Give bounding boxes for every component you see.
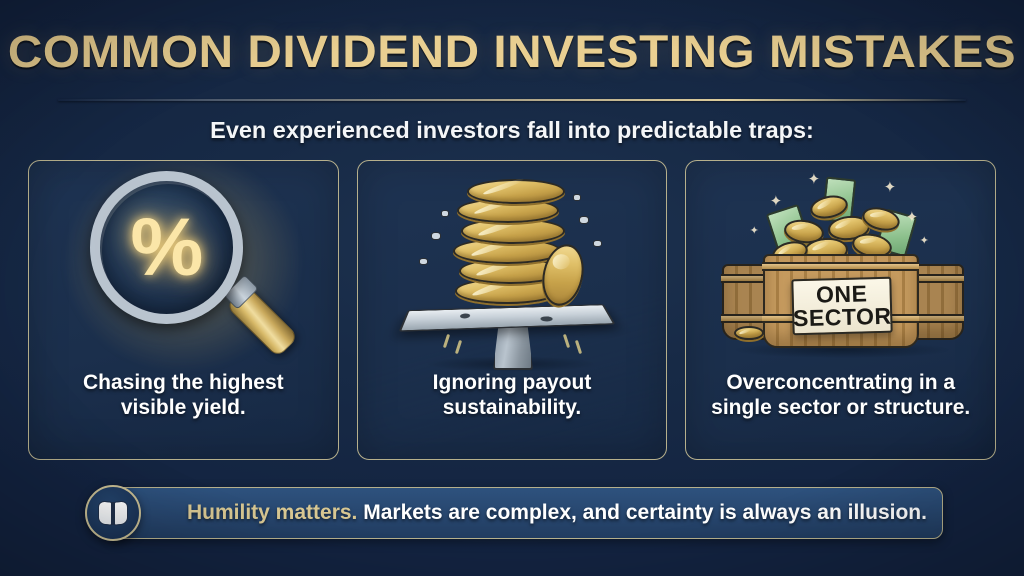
mistake-card-chasing-yield[interactable]: % Chasing the highest visible yield.: [28, 160, 339, 460]
card-caption: Chasing the highest visible yield.: [69, 371, 298, 421]
debris-chip: [593, 240, 602, 247]
motion-line: [455, 340, 462, 354]
basket-hoop: [762, 262, 919, 271]
open-book-icon: [98, 501, 128, 525]
card-caption: Ignoring payout sustainability.: [419, 371, 606, 421]
card-caption-line2: sustainability.: [433, 396, 592, 421]
motion-line: [563, 334, 570, 348]
sparkle-icon: ✦: [750, 226, 759, 237]
page-title: COMMON DIVIDEND INVESTING MISTAKES: [0, 26, 1024, 78]
book-spine: [111, 502, 115, 525]
mistake-card-list: % Chasing the highest visible yield.: [28, 160, 996, 460]
card-illustration: %: [29, 161, 338, 371]
sparkle-icon: ✦: [770, 194, 783, 209]
title-divider: [58, 99, 966, 101]
mistake-card-overconcentration[interactable]: ONE SECTOR ✦ ✦ ✦ ✦ ✦ ✦ Overconcentrating…: [685, 160, 996, 460]
card-caption-line2: visible yield.: [83, 396, 284, 421]
debris-chip: [573, 194, 581, 201]
footer-message: Humility matters. Markets are complex, a…: [187, 501, 927, 525]
debris-chip: [431, 232, 441, 240]
coin-stack-on-cracked-slab-icon: [397, 166, 627, 366]
book-left-page: [98, 500, 112, 525]
sparkle-icon: ✦: [808, 172, 821, 187]
debris-chip: [441, 210, 449, 217]
motion-line: [443, 334, 450, 348]
card-illustration: [358, 161, 667, 371]
percent-symbol: %: [90, 171, 243, 324]
card-caption-line1: Ignoring payout: [433, 371, 592, 396]
baskets-with-coins-icon: ONE SECTOR ✦ ✦ ✦ ✦ ✦ ✦: [716, 166, 966, 366]
coin-and-bill-pile: [766, 186, 916, 264]
sparkle-icon: ✦: [906, 210, 919, 225]
mistake-card-payout-sustainability[interactable]: Ignoring payout sustainability.: [357, 160, 668, 460]
footer-lead: Humility matters.: [187, 501, 357, 524]
card-caption: Overconcentrating in a single sector or …: [697, 371, 984, 421]
sparkle-icon: ✦: [920, 236, 929, 247]
motion-line: [575, 340, 582, 354]
card-caption-line2: single sector or structure.: [711, 396, 970, 421]
one-sector-sign: ONE SECTOR: [791, 277, 892, 336]
sign-line2: SECTOR: [792, 305, 891, 331]
card-illustration: ONE SECTOR ✦ ✦ ✦ ✦ ✦ ✦: [686, 161, 995, 371]
debris-chip: [579, 216, 589, 224]
magnifying-glass-percent-icon: %: [88, 171, 278, 361]
book-right-page: [114, 500, 128, 525]
footer-body: Markets are complex, and certainty is al…: [357, 501, 927, 524]
page-subtitle: Even experienced investors fall into pre…: [0, 117, 1024, 144]
sparkle-icon: ✦: [884, 180, 897, 195]
debris-chip: [419, 258, 428, 265]
stone-pedestal: [493, 324, 533, 370]
footer-badge: [85, 485, 141, 541]
coin-on-ground: [734, 326, 764, 340]
cracked-stone-slab: [399, 304, 616, 332]
coin: [467, 179, 565, 204]
footer-banner: Humility matters. Markets are complex, a…: [108, 487, 943, 539]
infographic-canvas: COMMON DIVIDEND INVESTING MISTAKES Even …: [0, 0, 1024, 576]
card-caption-line1: Overconcentrating in a: [711, 371, 970, 396]
